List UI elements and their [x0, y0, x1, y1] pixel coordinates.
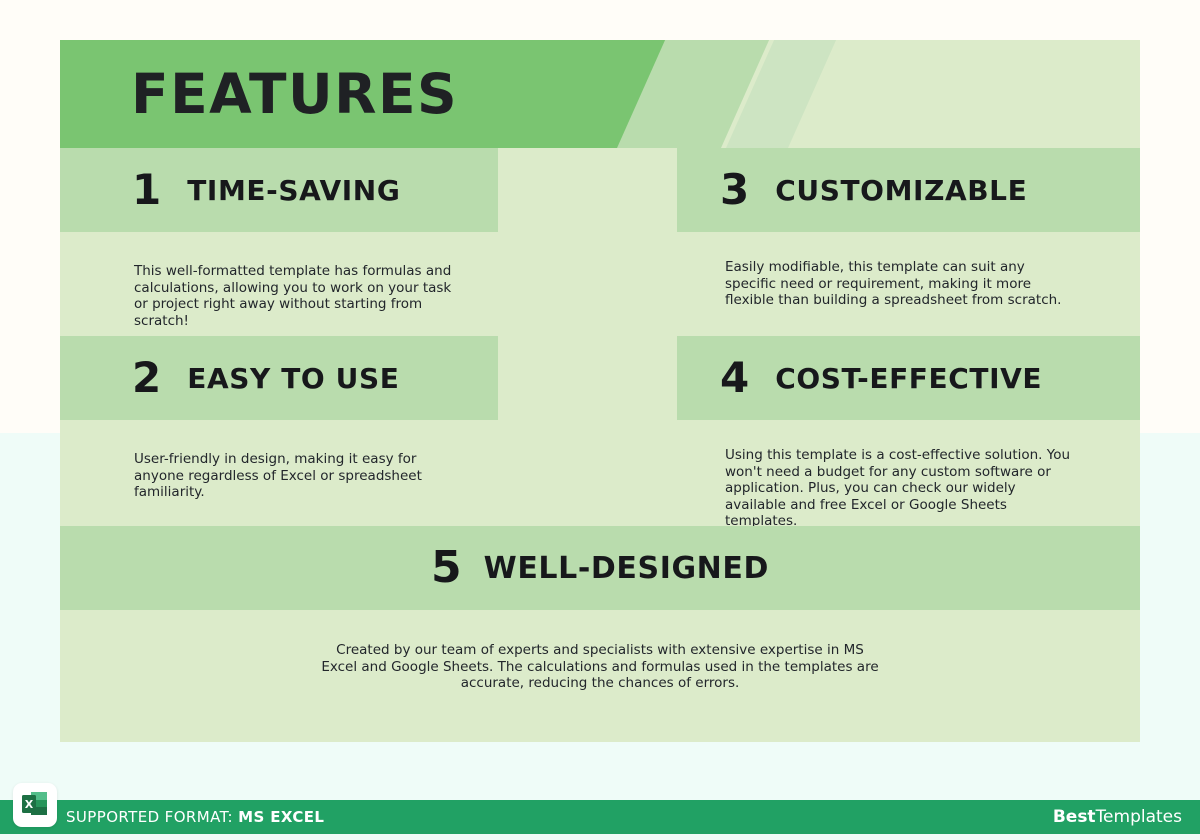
- feature-5-title: WELL-DESIGNED: [484, 551, 769, 586]
- feature-5-description: Created by our team of experts and speci…: [320, 642, 880, 692]
- feature-3-title: CUSTOMIZABLE: [775, 174, 1027, 207]
- features-grid: 1 TIME-SAVING This well-formatted templa…: [60, 148, 1140, 706]
- features-row-3: 5 WELL-DESIGNED Created by our team of e…: [60, 526, 1140, 706]
- header-banner: FEATURES: [60, 40, 1140, 148]
- supported-format-value: MS EXCEL: [238, 808, 324, 826]
- feature-4-title: COST-EFFECTIVE: [775, 362, 1042, 395]
- feature-1-description: This well-formatted template has formula…: [134, 263, 464, 329]
- feature-1-number: 1: [132, 169, 161, 211]
- feature-1-header: 1 TIME-SAVING: [60, 148, 498, 232]
- feature-4-header: 4 COST-EFFECTIVE: [677, 336, 1140, 420]
- slide-panel: FEATURES 1 TIME-SAVING This well-formatt…: [60, 40, 1140, 742]
- brand-logo[interactable]: BestTemplates: [1053, 807, 1182, 827]
- feature-card-3[interactable]: 3 CUSTOMIZABLE Easily modifiable, this t…: [677, 148, 1140, 309]
- feature-4-body: Using this template is a cost-effective …: [677, 420, 1075, 530]
- excel-icon: X: [20, 790, 50, 820]
- feature-2-number: 2: [132, 357, 161, 399]
- feature-card-1[interactable]: 1 TIME-SAVING This well-formatted templa…: [60, 148, 498, 329]
- excel-x-glyph: X: [25, 798, 34, 811]
- feature-3-description: Easily modifiable, this template can sui…: [725, 259, 1075, 309]
- feature-3-header: 3 CUSTOMIZABLE: [677, 148, 1140, 232]
- feature-1-body: This well-formatted template has formula…: [60, 232, 464, 329]
- features-row-1: 1 TIME-SAVING This well-formatted templa…: [60, 148, 1140, 336]
- feature-5-body: Created by our team of experts and speci…: [320, 610, 880, 692]
- supported-format-text: SUPPORTED FORMAT: MS EXCEL: [66, 808, 324, 826]
- feature-4-description: Using this template is a cost-effective …: [725, 447, 1075, 530]
- excel-badge: X: [13, 783, 57, 827]
- feature-1-title: TIME-SAVING: [187, 174, 400, 207]
- feature-2-description: User-friendly in design, making it easy …: [134, 451, 464, 501]
- supported-format-label: SUPPORTED FORMAT:: [66, 808, 233, 826]
- features-row-2: 2 EASY TO USE User-friendly in design, m…: [60, 336, 1140, 526]
- feature-4-number: 4: [720, 357, 749, 399]
- feature-card-4[interactable]: 4 COST-EFFECTIVE Using this template is …: [677, 336, 1140, 530]
- feature-5-header: 5 WELL-DESIGNED: [60, 526, 1140, 610]
- brand-secondary: Templates: [1096, 807, 1182, 827]
- feature-3-body: Easily modifiable, this template can sui…: [677, 232, 1075, 309]
- feature-2-title: EASY TO USE: [187, 362, 399, 395]
- feature-2-body: User-friendly in design, making it easy …: [60, 420, 464, 501]
- feature-2-header: 2 EASY TO USE: [60, 336, 498, 420]
- brand-primary: Best: [1053, 807, 1096, 827]
- feature-card-5[interactable]: 5 WELL-DESIGNED Created by our team of e…: [60, 526, 1140, 692]
- feature-5-number: 5: [431, 546, 462, 590]
- feature-3-number: 3: [720, 169, 749, 211]
- footer-bar: SUPPORTED FORMAT: MS EXCEL BestTemplates: [0, 800, 1200, 834]
- feature-card-2[interactable]: 2 EASY TO USE User-friendly in design, m…: [60, 336, 498, 501]
- page-title: FEATURES: [131, 62, 458, 126]
